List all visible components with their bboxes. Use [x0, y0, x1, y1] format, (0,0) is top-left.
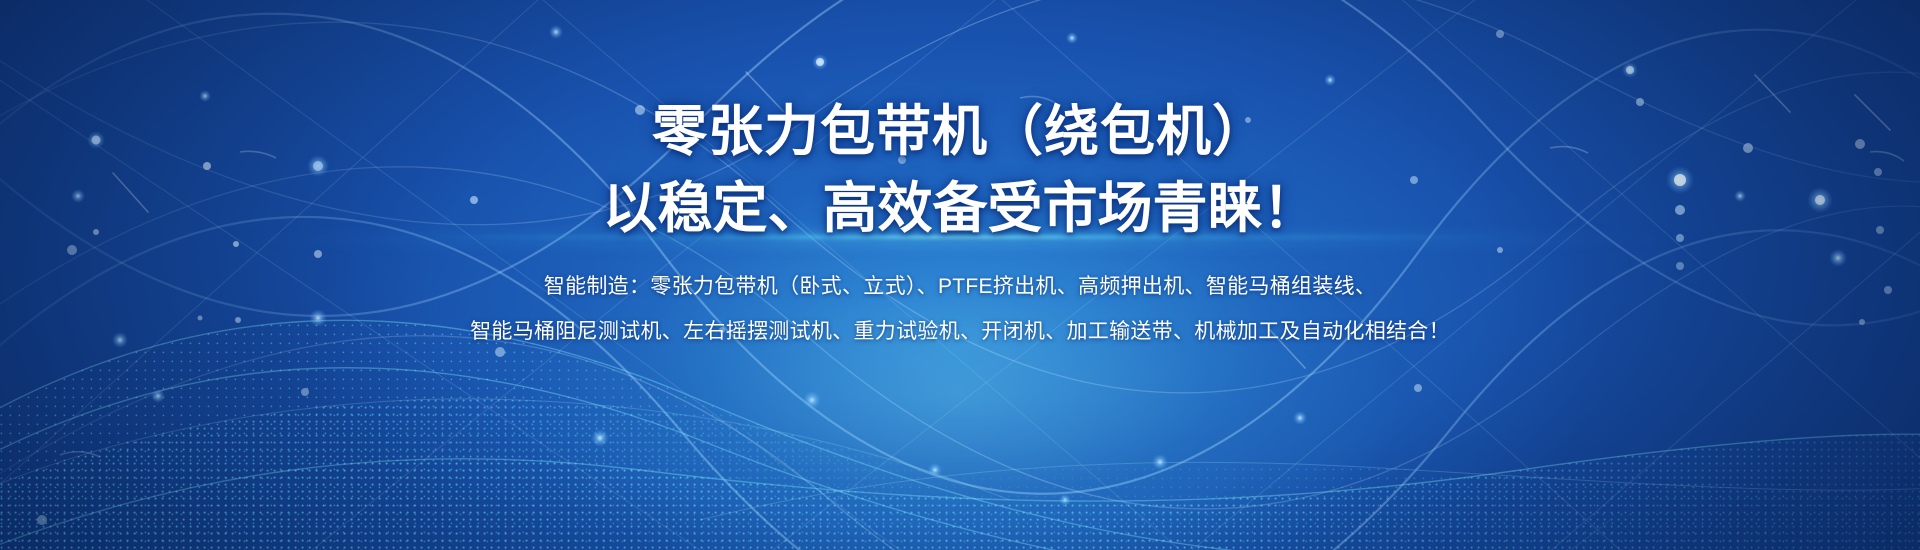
- headline-line-2: 以稳定、高效备受市场青睐！: [602, 181, 1317, 236]
- hero-banner: 零张力包带机（绕包机） 以稳定、高效备受市场青睐！ 智能制造：零张力包带机（卧式…: [0, 0, 1920, 550]
- headline-line-1: 零张力包带机（绕包机）: [652, 104, 1268, 159]
- subtitle-line-1: 智能制造：零张力包带机（卧式、立式）、PTFE挤出机、高频押出机、智能马桶组装线…: [544, 276, 1376, 297]
- banner-content: 零张力包带机（绕包机） 以稳定、高效备受市场青睐！ 智能制造：零张力包带机（卧式…: [0, 0, 1920, 550]
- subtitle-line-2: 智能马桶阻尼测试机、左右摇摆测试机、重力试验机、开闭机、加工输送带、机械加工及自…: [470, 321, 1450, 342]
